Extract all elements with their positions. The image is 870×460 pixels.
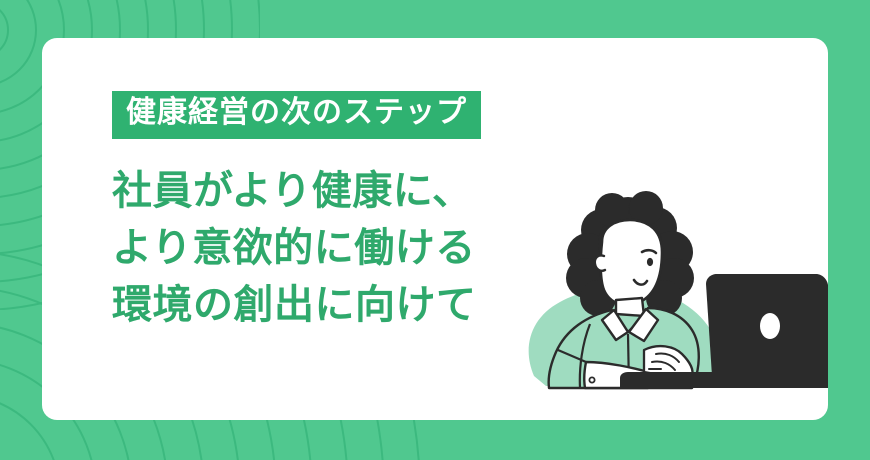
heading-line-3: 環境の創出に向けて [112,277,477,334]
content-card: 健康経営の次のステップ 社員がより健康に、 より意欲的に働ける 環境の創出に向け… [42,38,828,420]
badge-label: 健康経営の次のステップ [126,95,467,130]
heading-line-2: より意欲的に働ける [112,220,477,277]
page-title: 社員がより健康に、 より意欲的に働ける 環境の創出に向けて [112,163,477,333]
heading-line-1: 社員がより健康に、 [112,163,477,220]
eyebrow-badge: 健康経営の次のステップ [112,91,481,139]
banner-canvas: 健康経営の次のステップ 社員がより健康に、 より意欲的に働ける 環境の創出に向け… [0,0,870,460]
person-working-on-laptop-illustration [516,180,828,420]
